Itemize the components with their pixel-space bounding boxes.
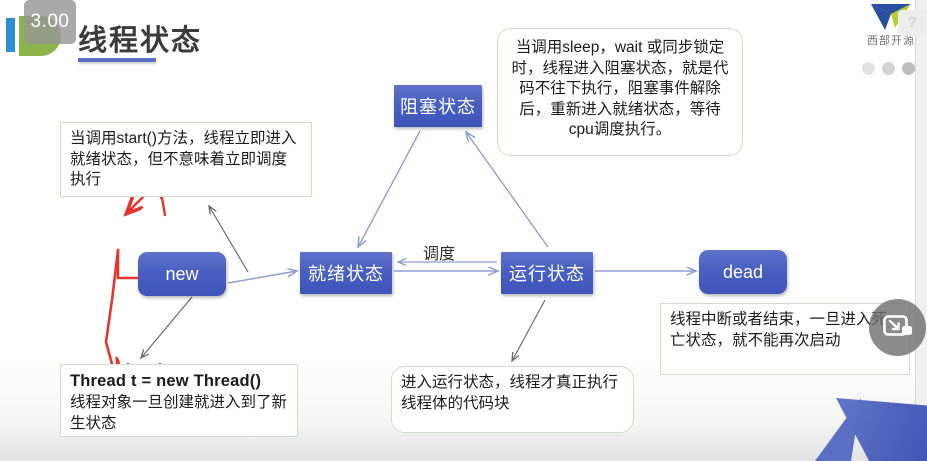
node-label: 运行状态: [509, 260, 585, 286]
callout-start-method: 当调用start()方法，线程立即进入就绪状态，但不意味着立即调度执行: [60, 122, 312, 197]
node-label: dead: [723, 262, 763, 283]
callout-thread-creation: Thread t = new Thread() 线程对象一旦创建就进入到了新生状…: [60, 364, 298, 437]
loading-dot: [882, 62, 895, 75]
callout-blocked-state: 当调用sleep，wait 或同步锁定时，线程进入阻塞状态，就是代码不往下执行，…: [497, 28, 743, 156]
node-label: 阻塞状态: [400, 93, 476, 119]
loading-dots: [862, 62, 915, 75]
page-title: 线程状态: [78, 17, 202, 59]
logo-bar-icon: [6, 18, 15, 52]
node-blocked-state[interactable]: 阻塞状态: [394, 85, 482, 127]
watermark-ghost-badge: ?: [898, 10, 926, 36]
node-label: 就绪状态: [308, 260, 384, 286]
callout-running-state: 进入运行状态，线程才真正执行线程体的代码块: [391, 366, 634, 433]
exit-fullscreen-icon: [883, 315, 913, 341]
exit-fullscreen-button[interactable]: [869, 299, 926, 356]
callout-description: 线程对象一旦创建就进入到了新生状态: [70, 393, 288, 434]
node-ready-state[interactable]: 就绪状态: [300, 252, 392, 294]
slide-canvas: 3.00 线程状态 西部开源 ?: [0, 0, 927, 461]
edge-label-schedule: 调度: [423, 240, 455, 264]
node-dead[interactable]: dead: [699, 250, 787, 294]
page-edge: [915, 0, 927, 461]
loading-dot: [862, 62, 875, 75]
node-label: new: [165, 264, 198, 285]
node-new[interactable]: new: [138, 252, 226, 296]
callout-code-line: Thread t = new Thread(): [70, 371, 288, 393]
title-underline: [78, 58, 156, 62]
playback-speed-badge[interactable]: 3.00: [24, 0, 76, 44]
loading-dot: [902, 62, 915, 75]
node-running-state[interactable]: 运行状态: [501, 252, 593, 294]
